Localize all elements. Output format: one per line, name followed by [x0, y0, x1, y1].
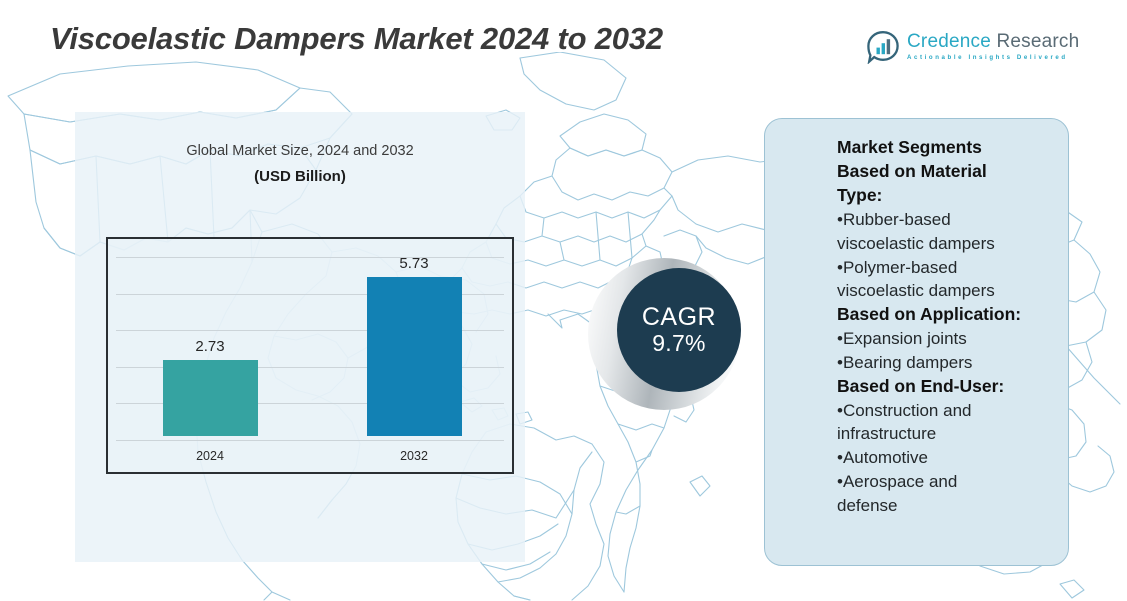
bar	[163, 360, 258, 436]
market-segments-list: Market SegmentsBased on MaterialType:•Ru…	[837, 136, 1048, 518]
logo-text-group: Credence Research Actionable Insights De…	[907, 32, 1079, 61]
logo-word-credence: Credence	[907, 31, 991, 52]
bar-category-label: 2032	[354, 449, 474, 463]
logo-word-research: Research	[996, 31, 1079, 52]
cagr-badge: CAGR 9.7%	[588, 250, 758, 420]
segment-item: •Construction and	[837, 399, 1048, 423]
cagr-circle: CAGR 9.7%	[617, 268, 741, 392]
segment-item: •Bearing dampers	[837, 351, 1048, 375]
segment-item: •Aerospace and	[837, 470, 1048, 494]
segment-item: infrastructure	[837, 422, 1048, 446]
cagr-value: 9.7%	[652, 330, 706, 356]
bar-chart-plot: 2.7320245.732032	[106, 237, 514, 474]
market-segments-panel: Market SegmentsBased on MaterialType:•Ru…	[764, 118, 1069, 566]
chart-heading: Global Market Size, 2024 and 2032	[75, 143, 525, 159]
segment-heading: Type:	[837, 184, 1048, 208]
segment-item: •Expansion joints	[837, 327, 1048, 351]
logo-tagline: Actionable Insights Delivered	[907, 55, 1079, 61]
brand-logo[interactable]: Credence Research Actionable Insights De…	[866, 30, 1079, 64]
cagr-label: CAGR	[642, 304, 716, 330]
segment-heading: Based on End-User:	[837, 375, 1048, 399]
bar	[367, 277, 462, 436]
page-title: Viscoelastic Dampers Market 2024 to 2032	[50, 21, 663, 57]
segment-item: viscoelastic dampers	[837, 279, 1048, 303]
segment-heading: Market Segments	[837, 136, 1048, 160]
segment-heading: Based on Application:	[837, 303, 1048, 327]
segment-item: •Rubber-based	[837, 208, 1048, 232]
bar-value-label: 2.73	[150, 338, 270, 355]
segment-item: defense	[837, 494, 1048, 518]
bar-chart-bubble-icon	[866, 30, 900, 64]
segment-heading: Based on Material	[837, 160, 1048, 184]
bar-category-label: 2024	[150, 449, 270, 463]
segment-item: •Automotive	[837, 446, 1048, 470]
gridline	[116, 440, 504, 441]
chart-subheading: (USD Billion)	[75, 168, 525, 185]
infographic-canvas: Viscoelastic Dampers Market 2024 to 2032…	[0, 0, 1127, 601]
bar-value-label: 5.73	[354, 255, 474, 272]
logo-wordmark: Credence Research	[907, 32, 1079, 51]
segment-item: viscoelastic dampers	[837, 232, 1048, 256]
segment-item: •Polymer-based	[837, 256, 1048, 280]
